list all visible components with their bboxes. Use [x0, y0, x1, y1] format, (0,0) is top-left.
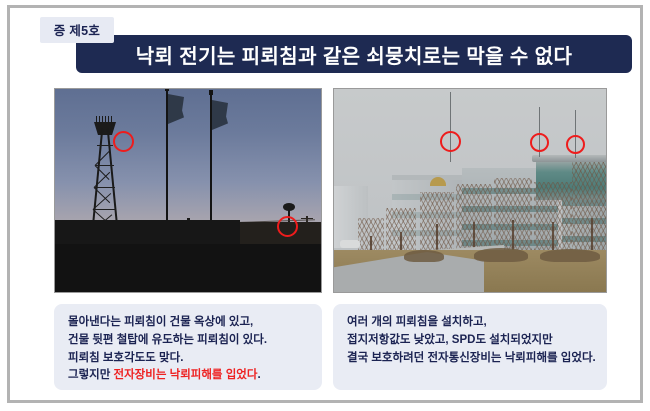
- tower-brace: [94, 209, 116, 210]
- tree-canopy: [572, 162, 607, 258]
- caption-left-line-2: 건물 뒷편 철탑에 유도하는 피뢰침이 있다.: [68, 332, 310, 350]
- marker-circle-lightning-rod-tower: [113, 131, 134, 152]
- caption-left-line-4-suffix: .: [257, 369, 260, 381]
- tower-diagonal: [95, 151, 110, 166]
- flagpole-cap: [165, 88, 169, 91]
- wall-silhouette: [55, 220, 240, 246]
- parked-car: [340, 240, 360, 248]
- caption-left-line-1: 몰아낸다는 피뢰침이 건물 옥상에 있고,: [68, 314, 310, 332]
- caption-left: 몰아낸다는 피뢰침이 건물 옥상에 있고, 건물 뒷편 철탑에 유도하는 피뢰침…: [54, 304, 322, 390]
- page-title: 낙뢰 전기는 피뢰침과 같은 쇠뭉치로는 막을 수 없다: [136, 40, 573, 69]
- evidence-badge: 증 제5호: [40, 17, 114, 43]
- caption-right: 여러 개의 피뢰침을 설치하고, 접지저항값도 낮았고, SPD도 설치되었지만…: [333, 304, 607, 390]
- photo-left: [54, 88, 322, 293]
- shrub: [404, 250, 444, 262]
- caption-right-line-1: 여러 개의 피뢰침을 설치하고,: [347, 314, 595, 332]
- caption-right-line-2: 접지저항값도 낮았고, SPD도 설치되었지만: [347, 332, 595, 350]
- slide-frame: 증 제5호 낙뢰 전기는 피뢰침과 같은 쇠뭉치로는 막을 수 없다: [7, 5, 643, 403]
- marker-circle-lightning-rod-lamp: [277, 216, 298, 237]
- tower-brace: [95, 187, 115, 188]
- shrub: [474, 248, 528, 262]
- caption-right-line-3: 결국 보호하려던 전자통신장비는 낙뢰피해를 입었다.: [347, 350, 595, 368]
- bare-tree: [420, 184, 454, 258]
- photo-right: [333, 88, 607, 293]
- tower-brace: [96, 165, 114, 166]
- caption-left-line-4: 그렇지만 전자장비는 낙뢰피해를 입었다.: [68, 367, 310, 385]
- flagpole-cap: [209, 90, 213, 95]
- caption-left-line-3: 피뢰침 보호각도도 맞다.: [68, 350, 310, 368]
- bare-tree: [572, 154, 607, 258]
- caption-left-line-4-prefix: 그렇지만: [68, 369, 114, 381]
- ground-silhouette: [55, 244, 321, 292]
- tower-brace: [97, 145, 113, 146]
- title-banner: 낙뢰 전기는 피뢰침과 같은 쇠뭉치로는 막을 수 없다: [76, 35, 632, 73]
- tower-head: [94, 122, 116, 135]
- marker-circle-lightning-rod-2: [530, 133, 549, 152]
- caption-left-highlight: 전자장비는 낙뢰피해를 입었다: [114, 369, 258, 381]
- photo-right-scene: [334, 89, 606, 292]
- building-mid-left-roof: [392, 175, 466, 180]
- tree-canopy: [534, 182, 572, 258]
- bare-tree: [534, 174, 572, 258]
- lamp-head: [283, 203, 295, 211]
- photo-left-scene: [55, 89, 321, 292]
- marker-circle-lightning-rod-3: [566, 135, 585, 154]
- shrub: [540, 249, 600, 262]
- marker-circle-lightning-rod-1: [440, 131, 461, 152]
